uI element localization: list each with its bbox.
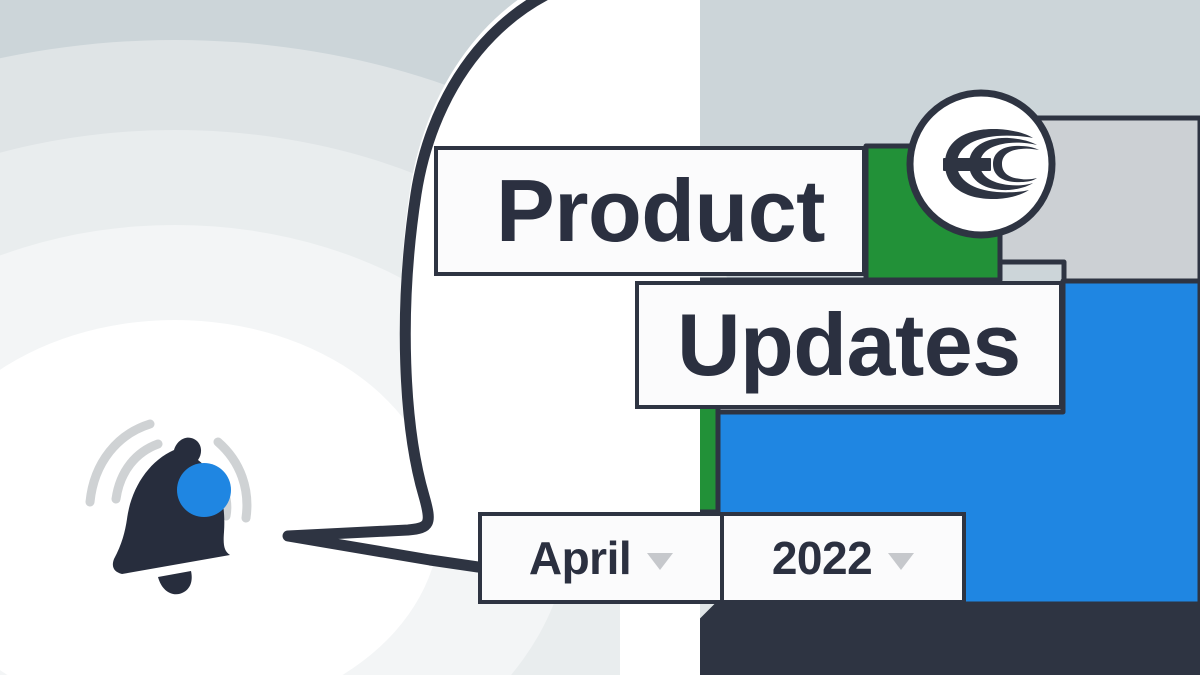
bell-clapper	[158, 571, 192, 594]
title-box-updates: Updates	[635, 281, 1063, 409]
notification-dot-icon	[177, 463, 231, 517]
year-selector-value: 2022	[772, 531, 872, 585]
date-selector-row: April 2022	[478, 512, 966, 604]
page-title-line-2: Updates	[677, 301, 1021, 389]
chevron-down-icon	[888, 553, 914, 570]
page-title-line-1: Product	[496, 167, 825, 255]
title-box-product: Product	[434, 146, 866, 276]
month-selector[interactable]: April	[482, 516, 724, 600]
month-selector-value: April	[529, 531, 631, 585]
ringing-bell-icon	[78, 414, 268, 604]
brand-logo-svg	[905, 88, 1057, 240]
year-selector[interactable]: 2022	[724, 516, 962, 600]
bell-svg	[78, 414, 268, 604]
brand-logo-badge	[905, 88, 1057, 240]
chevron-down-icon	[647, 553, 673, 570]
product-updates-banner: Product Updates April 2022	[0, 0, 1200, 675]
navy-extrusion	[647, 604, 1200, 675]
